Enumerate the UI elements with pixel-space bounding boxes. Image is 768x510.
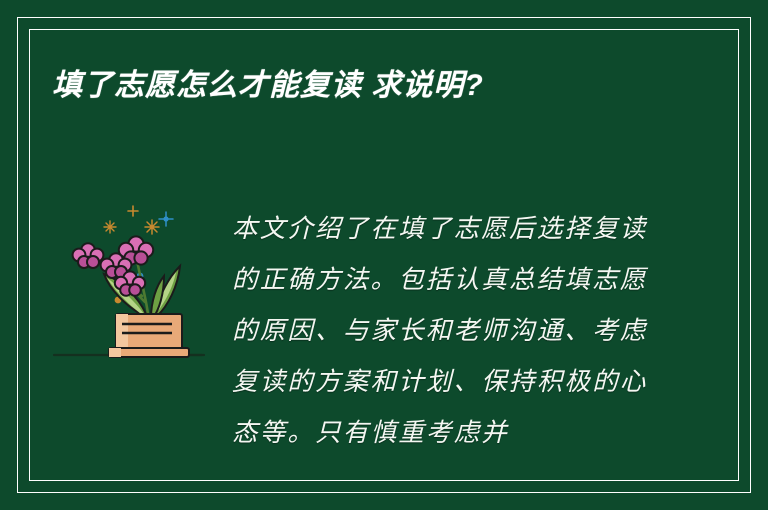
article-cover-card: 填了志愿怎么才能复读 求说明? bbox=[0, 0, 768, 510]
sparkle-icon-orange-burst bbox=[145, 220, 159, 234]
sparkle-icon-orange-cross bbox=[128, 206, 138, 216]
flower-left bbox=[73, 243, 104, 268]
sparkle-icon-blue-star bbox=[159, 212, 173, 226]
sparkle-icon-orange-small bbox=[104, 221, 116, 233]
page-title: 填了志愿怎么才能复读 求说明? bbox=[52, 68, 722, 104]
orchid-plant-illustration bbox=[52, 192, 217, 377]
article-summary-text: 本文介绍了在填了志愿后选择复读的正确方法。包括认真总结填志愿的原因、与家长和老师… bbox=[232, 204, 650, 460]
flower-pot bbox=[109, 314, 189, 357]
